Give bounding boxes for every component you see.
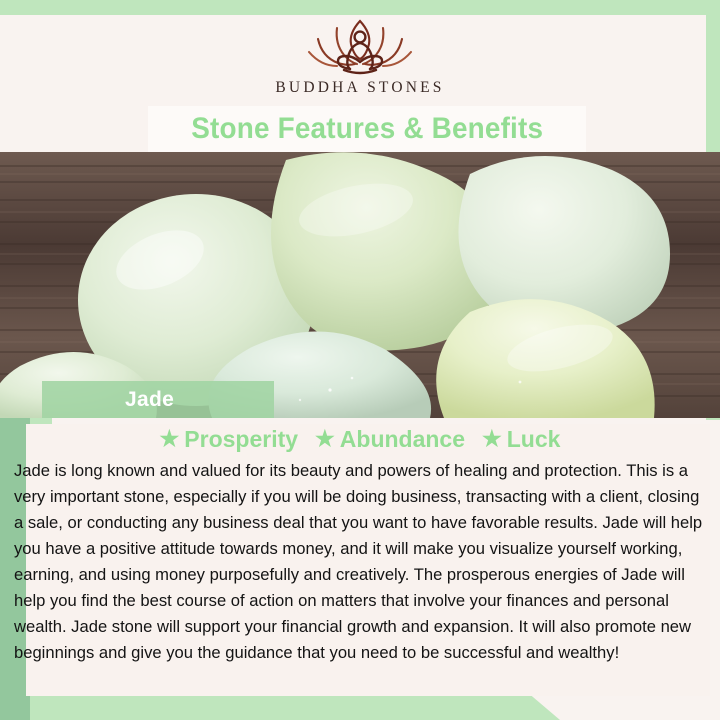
jade-stones-photo bbox=[0, 152, 720, 418]
title-banner: Stone Features & Benefits bbox=[148, 106, 586, 152]
star-icon: ★ bbox=[315, 426, 335, 452]
star-icon: ★ bbox=[482, 426, 502, 452]
keyword-list: ★ Prosperity ★ Abundance ★ Luck bbox=[0, 424, 720, 454]
star-icon: ★ bbox=[160, 426, 180, 452]
keyword-abundance: ★ Abundance bbox=[315, 426, 465, 453]
page-title: Stone Features & Benefits bbox=[191, 112, 543, 146]
keyword-prosperity: ★ Prosperity bbox=[160, 426, 299, 453]
keyword-label: Luck bbox=[507, 426, 561, 453]
keyword-luck: ★ Luck bbox=[482, 426, 560, 453]
stone-description-text: Jade is long known and valued for its be… bbox=[14, 458, 706, 666]
top-green-band bbox=[0, 0, 720, 15]
brand-header: BUDDHA STONES bbox=[0, 15, 720, 107]
keyword-label: Abundance bbox=[340, 426, 465, 453]
lotus-meditation-icon bbox=[304, 15, 416, 77]
stone-info-card: Jade BUDDHA STONES bbox=[0, 0, 720, 720]
stone-name-text: Jade bbox=[125, 388, 174, 412]
keyword-label: Prosperity bbox=[184, 426, 298, 453]
brand-name: BUDDHA STONES bbox=[275, 79, 444, 97]
stone-name-label: Jade bbox=[42, 381, 274, 418]
